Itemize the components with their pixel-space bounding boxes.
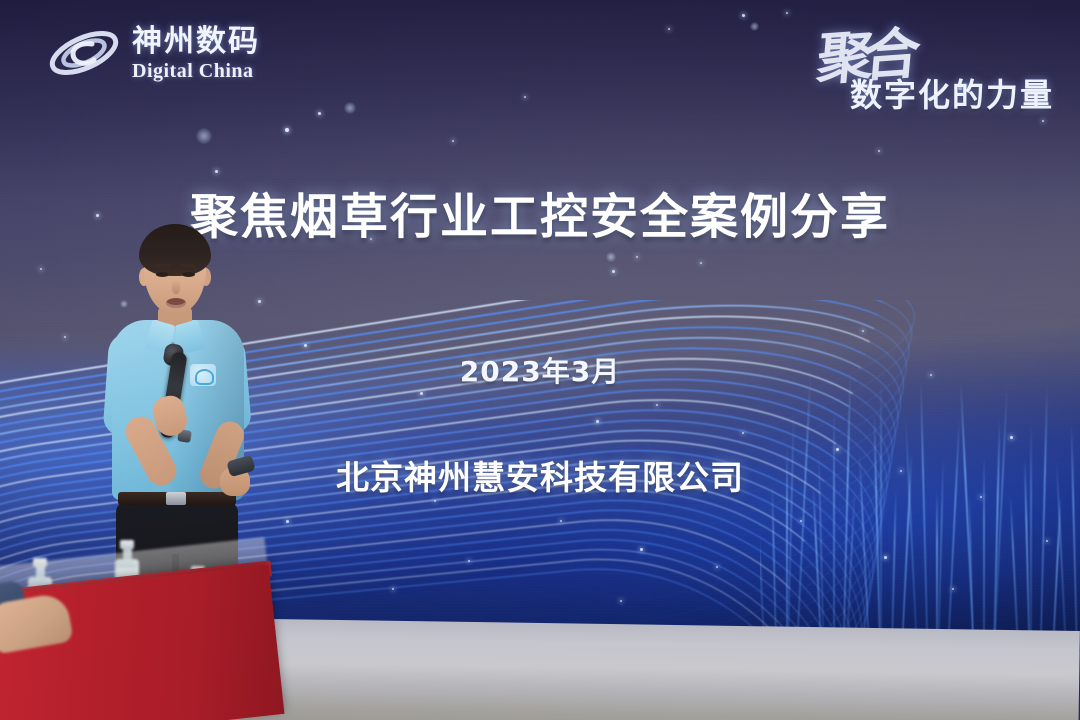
light-particle: [640, 548, 643, 551]
calligraphy-tagline: 数字化的力量: [850, 70, 1054, 116]
light-particle: [878, 150, 880, 152]
event-calligraphy-mark: 聚合 数字化的力量: [796, 14, 1058, 118]
bokeh-light: [344, 102, 356, 114]
light-particle: [468, 560, 470, 562]
presenter-hair: [139, 224, 211, 276]
light-particle: [700, 262, 702, 264]
presenter-nose: [172, 280, 180, 294]
logo-english-name: Digital China: [132, 61, 260, 81]
digital-china-wordmark: 神州数码 Digital China: [132, 25, 260, 81]
light-particle: [786, 12, 788, 14]
digital-china-logo: 神州数码 Digital China: [46, 20, 306, 86]
presenter-eye-left: [156, 272, 169, 277]
light-particle: [420, 392, 423, 395]
light-particle: [800, 520, 802, 522]
light-particle: [668, 28, 670, 30]
light-particle: [40, 268, 42, 270]
light-particle: [318, 112, 321, 115]
light-particle: [1042, 120, 1044, 122]
presenter-mouth: [166, 298, 186, 308]
shirt-logo-badge: [190, 364, 216, 386]
logo-chinese-name: 神州数码: [132, 27, 260, 57]
light-particle: [596, 420, 599, 423]
light-particle: [285, 128, 289, 132]
light-particle: [392, 588, 394, 590]
light-particle: [862, 330, 864, 332]
light-particle: [286, 520, 289, 523]
bokeh-light: [196, 128, 212, 144]
light-particle: [742, 14, 745, 17]
light-particle: [612, 270, 615, 273]
presenter-eye-right: [182, 272, 195, 277]
light-particle: [636, 256, 638, 258]
conference-stage-photo: 神州数码 Digital China 聚合 数字化的力量 聚焦烟草行业工控安全案…: [0, 0, 1080, 720]
bottle-cap: [120, 540, 134, 549]
light-particle: [64, 336, 66, 338]
belt-buckle: [166, 492, 186, 505]
light-particle: [560, 520, 562, 522]
light-particle: [524, 96, 526, 98]
light-particle: [620, 600, 622, 602]
bokeh-light: [606, 252, 616, 262]
light-particle: [1010, 436, 1013, 439]
light-particle: [952, 588, 954, 590]
bokeh-light: [750, 22, 759, 31]
light-particle: [656, 404, 658, 406]
light-particle: [1046, 540, 1048, 542]
light-particle: [742, 432, 744, 434]
light-particle: [716, 566, 718, 568]
digital-china-swirl-icon: [46, 22, 122, 84]
light-particle: [452, 140, 454, 142]
light-particle: [215, 170, 218, 173]
light-particle: [884, 556, 887, 559]
light-particle: [304, 344, 307, 347]
light-particle: [434, 500, 436, 502]
